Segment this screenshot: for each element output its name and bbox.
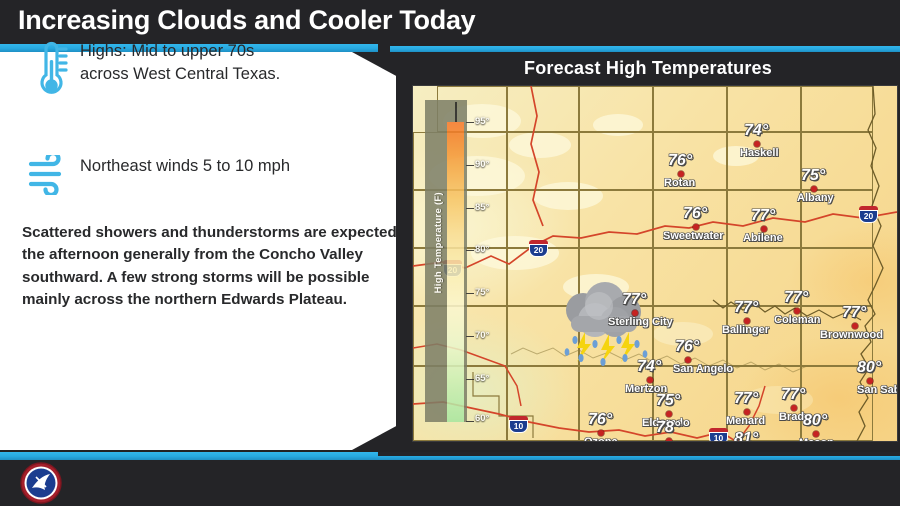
city-temp: 77°: [622, 291, 646, 309]
colorbar-title: High Temperature (F): [433, 192, 444, 293]
colorbar-tick-label: 70°: [475, 330, 489, 341]
temperature-colorbar: High Temperature (F) 95° 90° 85° 80° 75°…: [425, 100, 467, 422]
nws-seal-icon: [18, 461, 64, 505]
city-dot: [666, 438, 672, 442]
city-temp: 75°: [801, 167, 825, 185]
highs-bullet: Highs: Mid to upper 70s across West Cent…: [18, 40, 378, 102]
city-label: Brownwood: [820, 330, 883, 341]
highway-shield-i10: 10: [509, 416, 528, 433]
colorbar-tick-label: 65°: [475, 373, 489, 384]
city-temp: 77°: [734, 299, 758, 317]
weather-graphic: Increasing Clouds and Cooler Today Highs…: [0, 0, 900, 506]
city-temp: 81°: [734, 430, 758, 442]
panel-corner-cut-bottom: [352, 424, 400, 450]
city-temp: 74°: [744, 122, 768, 140]
highway-shield-i10: 10: [709, 428, 728, 442]
city-temp: 75°: [656, 392, 680, 410]
city-label: Abilene: [743, 233, 783, 244]
highs-text: Highs: Mid to upper 70s across West Cent…: [80, 40, 280, 87]
city-label: Albany: [797, 193, 834, 204]
winds-text: Northeast winds 5 to 10 mph: [80, 155, 290, 178]
forecast-discussion-text: Scattered showers and thunderstorms are …: [22, 222, 417, 311]
colorbar-tick-label: 60°: [475, 413, 489, 424]
city-temp: 77°: [751, 207, 775, 225]
city-label: Sweetwater: [663, 231, 724, 242]
colorbar-gradient: [447, 122, 464, 422]
thermometer-icon: [18, 40, 80, 102]
city-temp: 74°: [637, 358, 661, 376]
city-label: Ballinger: [722, 325, 769, 336]
city-label: Haskell: [740, 148, 779, 159]
city-temp: 76°: [668, 152, 692, 170]
city-temp: 77°: [734, 390, 758, 408]
city-label: Mason: [799, 438, 834, 442]
wind-icon: [18, 155, 80, 195]
city-label: Menard: [726, 416, 765, 427]
colorbar-tick-label: 75°: [475, 287, 489, 298]
city-temp: 77°: [781, 386, 805, 404]
city-label: Rotan: [664, 178, 695, 189]
city-temp: 76°: [588, 411, 612, 429]
city-label: Ozona: [584, 437, 618, 442]
map-title: Forecast High Temperatures: [396, 58, 900, 79]
footer-bar: NATIONAL WEATHER SERVICE SAN ANGELO Foll…: [0, 460, 900, 506]
city-temp: 78°: [656, 419, 680, 437]
temperature-map[interactable]: 20 20 20 10 10: [412, 85, 898, 442]
highway-shield-i20: 20: [529, 240, 548, 257]
city-temp: 76°: [683, 205, 707, 223]
map-panel: Forecast High Temperatures: [396, 52, 900, 450]
footer-stripe-notch: [378, 452, 900, 456]
city-label: San Angelo: [673, 364, 721, 375]
page-title: Increasing Clouds and Cooler Today: [18, 5, 475, 36]
map-terrain: 20 20 20 10 10: [413, 86, 897, 441]
city-temp: 80°: [857, 359, 881, 377]
city-temp: 77°: [842, 304, 866, 322]
city-temp: 76°: [675, 338, 699, 356]
colorbar-tick-label: 85°: [475, 202, 489, 213]
colorbar-stem: [455, 102, 457, 124]
city-temp: 80°: [803, 412, 827, 430]
colorbar-tick-label: 95°: [475, 116, 489, 127]
city-temp: 77°: [784, 289, 808, 307]
city-label: Coleman: [774, 315, 820, 326]
highway-shield-i20: 20: [859, 206, 878, 223]
colorbar-tick-label: 80°: [475, 244, 489, 255]
header-bar: Increasing Clouds and Cooler Today: [0, 0, 900, 44]
city-label: San Saba: [857, 385, 891, 396]
city-label: Sterling City: [608, 317, 670, 328]
colorbar-tick-label: 90°: [475, 159, 489, 170]
winds-bullet: Northeast winds 5 to 10 mph: [18, 155, 378, 195]
